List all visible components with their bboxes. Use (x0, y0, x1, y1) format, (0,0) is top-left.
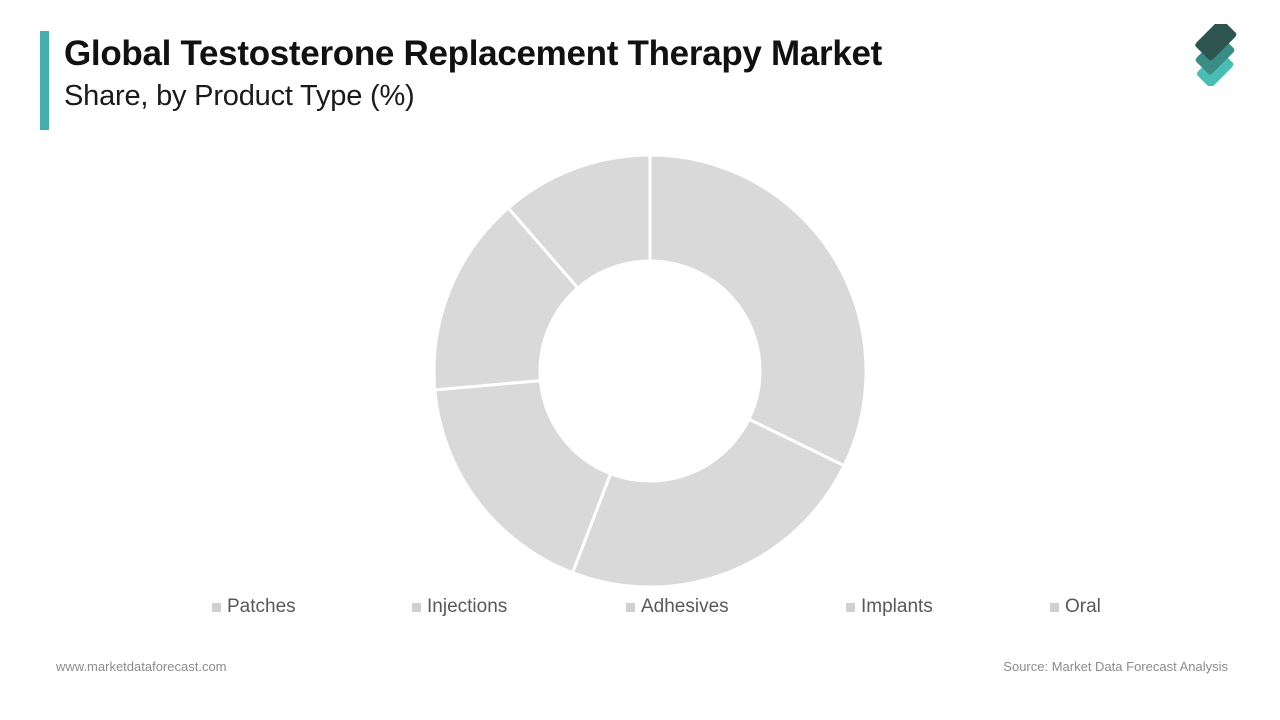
title-block: Global Testosterone Replacement Therapy … (64, 32, 1144, 116)
donut-slice-injections[interactable] (573, 419, 845, 587)
legend-item-oral[interactable]: Oral (1050, 594, 1101, 620)
legend-label: Patches (227, 596, 296, 618)
legend-swatch-icon (212, 603, 221, 612)
page-subtitle: Share, by Product Type (%) (64, 76, 1144, 116)
legend-swatch-icon (1050, 603, 1059, 612)
chart-legend: PatchesInjectionsAdhesivesImplantsOral (0, 594, 1280, 622)
legend-label: Injections (427, 596, 507, 618)
market-data-forecast-logo (1186, 24, 1256, 86)
header: Global Testosterone Replacement Therapy … (0, 0, 1280, 150)
title-accent-bar (40, 31, 49, 130)
legend-label: Implants (861, 596, 933, 618)
donut-chart (420, 140, 880, 600)
legend-swatch-icon (626, 603, 635, 612)
legend-item-injections[interactable]: Injections (412, 594, 507, 620)
donut-slice-adhesives[interactable] (435, 381, 611, 573)
legend-swatch-icon (412, 603, 421, 612)
donut-chart-svg (420, 140, 880, 600)
page-title: Global Testosterone Replacement Therapy … (64, 32, 1144, 76)
legend-label: Adhesives (641, 596, 729, 618)
donut-slice-patches[interactable] (650, 155, 866, 466)
legend-item-patches[interactable]: Patches (212, 594, 296, 620)
legend-item-implants[interactable]: Implants (846, 594, 933, 620)
legend-item-adhesives[interactable]: Adhesives (626, 594, 729, 620)
chart-area (0, 140, 1280, 610)
footer: www.marketdataforecast.com Source: Marke… (0, 658, 1280, 688)
footer-website-url[interactable]: www.marketdataforecast.com (56, 658, 227, 676)
footer-source-note: Source: Market Data Forecast Analysis (1003, 658, 1228, 676)
legend-swatch-icon (846, 603, 855, 612)
legend-label: Oral (1065, 596, 1101, 618)
